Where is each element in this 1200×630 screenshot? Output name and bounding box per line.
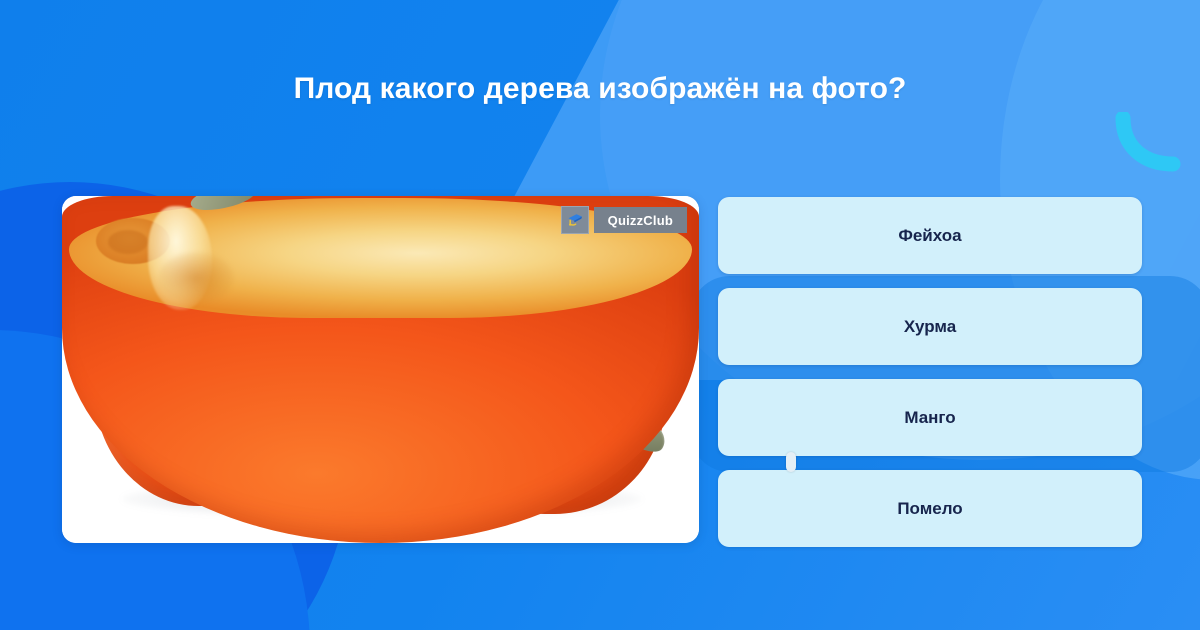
fruit-core-inner <box>108 230 148 254</box>
answer-label: Фейхоа <box>898 226 961 246</box>
answer-label: Хурма <box>904 317 956 337</box>
quiz-slide: Плод какого дерева изображён на фото? <box>0 0 1200 630</box>
persimmon-photo <box>62 196 699 543</box>
answer-option-2[interactable]: Хурма <box>718 288 1142 365</box>
graduation-cap-icon <box>561 206 589 234</box>
persimmon-fruit-halved <box>62 196 278 368</box>
page-title: Плод какого дерева изображён на фото? <box>0 72 1200 106</box>
answer-options-list: Фейхоа Хурма Манго Помело <box>718 197 1142 547</box>
answer-label: Помело <box>897 499 962 519</box>
background-wedge-shape-secondary <box>1170 0 1200 270</box>
answer-option-1[interactable]: Фейхоа <box>718 197 1142 274</box>
cursor-handle-indicator[interactable] <box>786 452 796 472</box>
watermark-brand-label: QuizzClub <box>594 207 687 233</box>
crescent-arc-icon <box>1113 112 1183 174</box>
answer-option-3[interactable]: Манго <box>718 379 1142 456</box>
fruit-blush <box>158 252 234 304</box>
watermark-badge: QuizzClub <box>561 206 687 234</box>
answer-label: Манго <box>904 408 955 428</box>
answer-option-4[interactable]: Помело <box>718 470 1142 547</box>
question-image-card: QuizzClub <box>62 196 699 543</box>
